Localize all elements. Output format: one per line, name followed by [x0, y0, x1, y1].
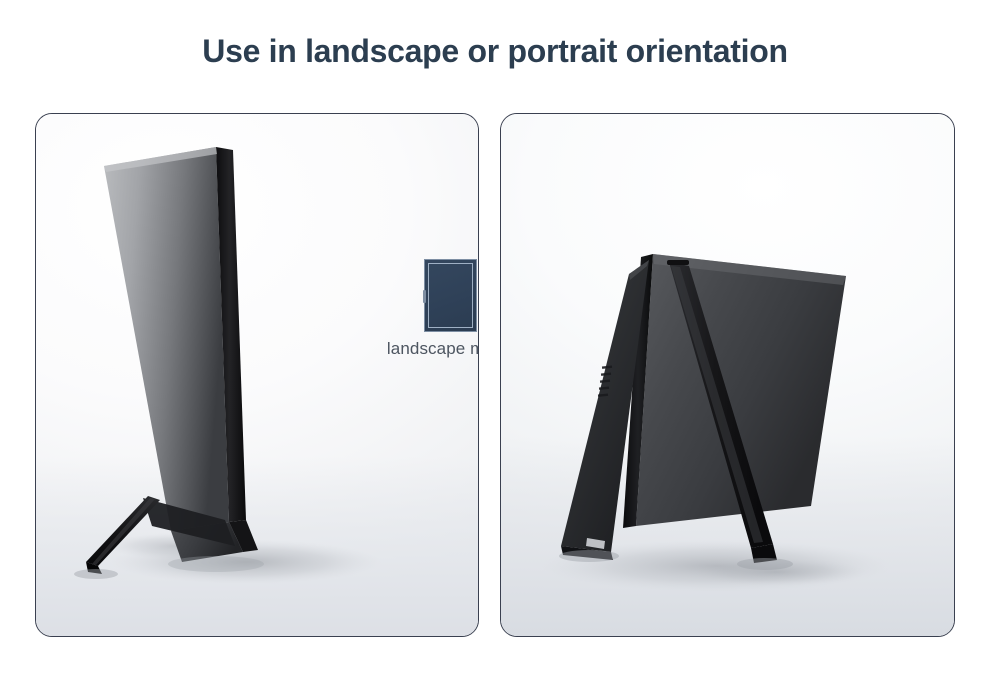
product-photo-vertical	[36, 114, 478, 636]
thumbnail-bezel	[428, 263, 473, 328]
card-portrait-orientation: portrait mode	[500, 113, 955, 637]
card-landscape-orientation: landscape mode (Vertical screen mode is …	[35, 113, 479, 637]
mode-indicator-landscape: landscape mode	[366, 259, 479, 359]
page-title: Use in landscape or portrait orientation	[0, 33, 990, 70]
monitor-thumbnail-portrait-shape	[424, 259, 477, 332]
thumbnail-side-button-icon	[423, 290, 426, 303]
product-photo-horizontal	[501, 114, 954, 636]
monitor-vertical-illustration	[36, 114, 478, 636]
monitor-horizontal-illustration	[501, 114, 954, 636]
mode-label-landscape: landscape mode	[366, 339, 479, 359]
